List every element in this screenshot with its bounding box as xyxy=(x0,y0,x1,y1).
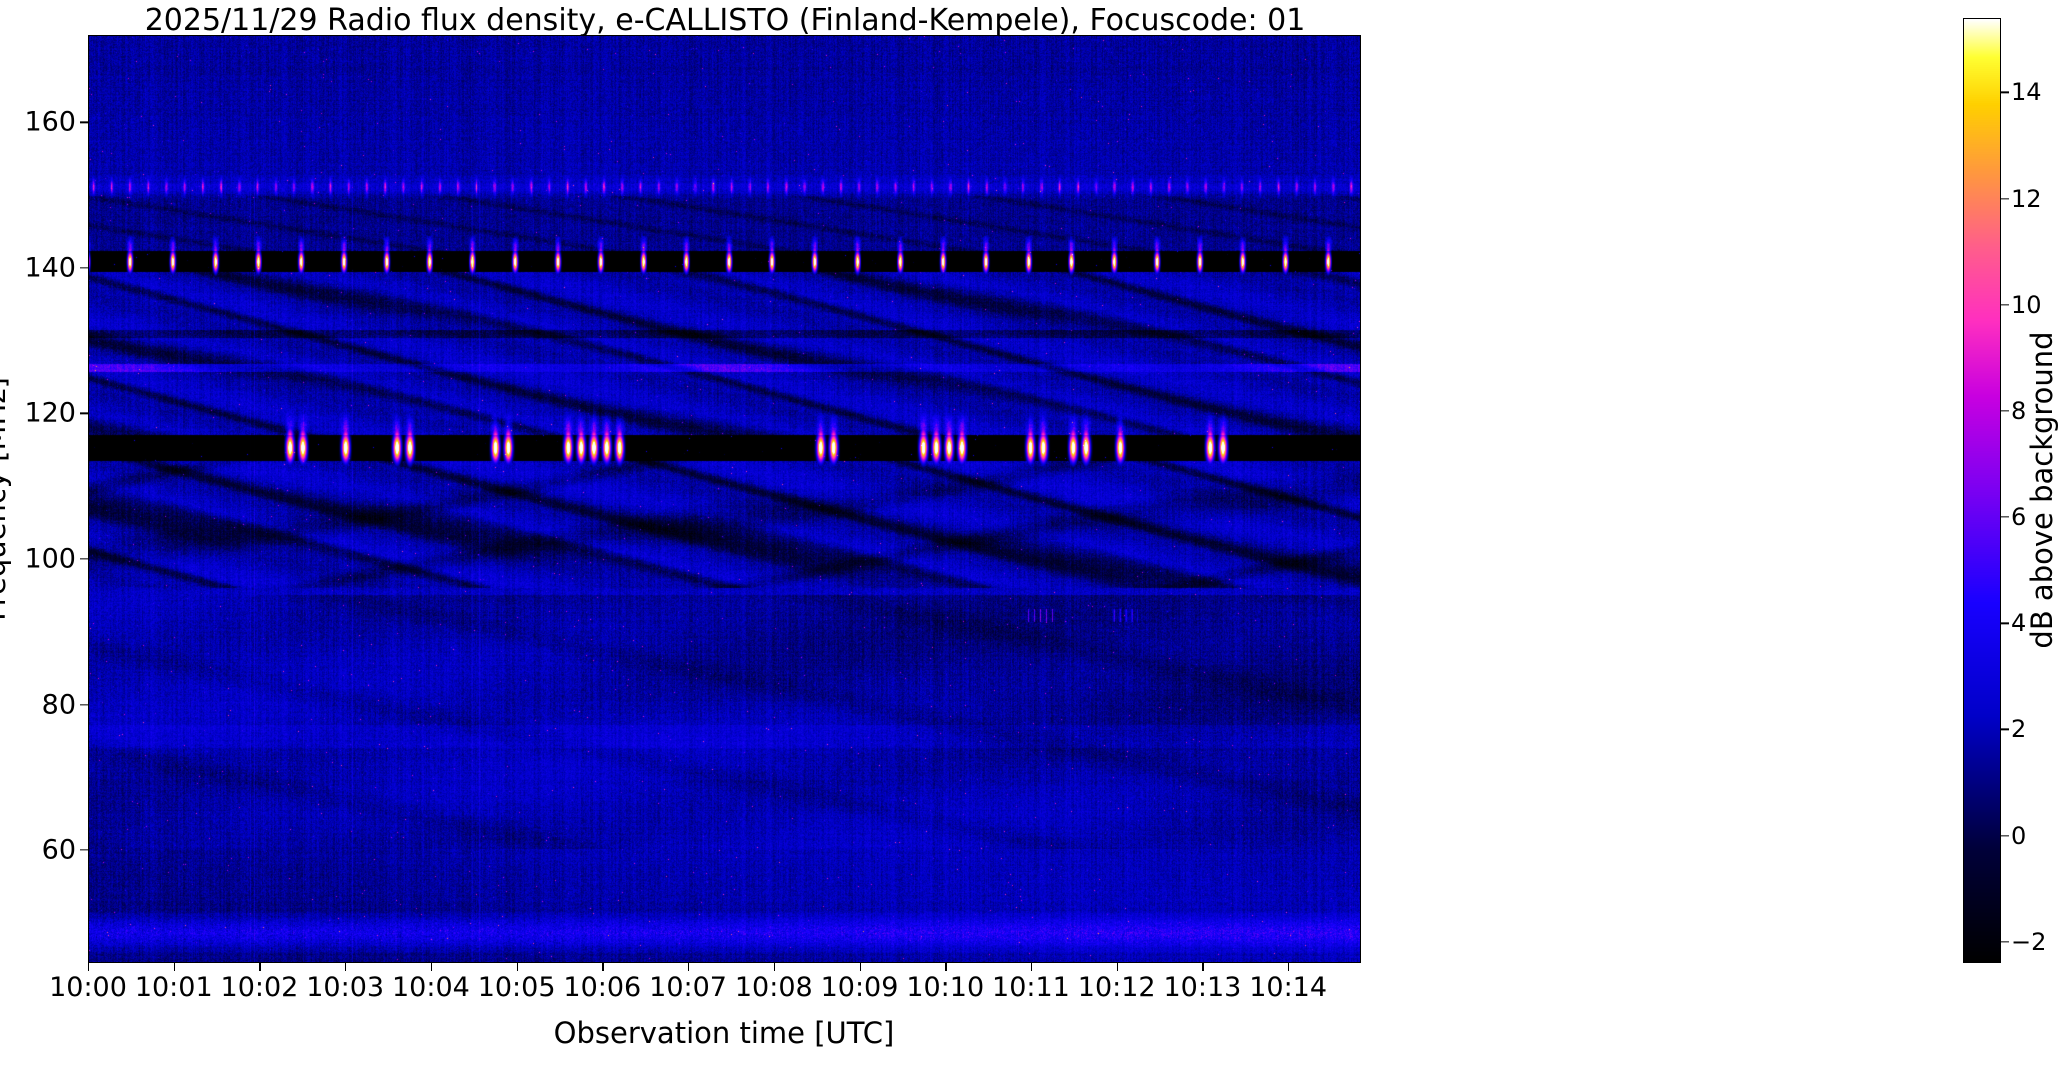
y-axis-tick-label: 160 xyxy=(8,109,76,136)
x-axis-tick-mark xyxy=(688,963,689,971)
spectrogram-canvas[interactable] xyxy=(89,36,1360,962)
spectrogram-plot-area[interactable] xyxy=(88,35,1361,963)
y-axis-tick-mark xyxy=(80,413,88,414)
x-axis-tick-mark xyxy=(1117,963,1118,971)
colorbar-tick-label: 0 xyxy=(2011,824,2026,848)
y-axis-tick-mark xyxy=(80,850,88,851)
x-axis-tick-mark xyxy=(1031,963,1032,971)
x-axis-tick-label: 10:12 xyxy=(1078,974,1156,1001)
x-axis-tick-mark xyxy=(517,963,518,971)
y-axis-tick-label: 60 xyxy=(8,837,76,864)
x-axis-tick-label: 10:10 xyxy=(906,974,984,1001)
y-axis-tick-label: 100 xyxy=(8,546,76,573)
x-axis-tick-mark xyxy=(602,963,603,971)
colorbar-tick-mark xyxy=(2001,92,2009,93)
x-axis-tick-label: 10:08 xyxy=(735,974,813,1001)
x-axis-tick-label: 10:00 xyxy=(49,974,127,1001)
x-axis-tick-label: 10:04 xyxy=(392,974,470,1001)
x-axis-tick-mark xyxy=(431,963,432,971)
x-axis-tick-mark xyxy=(345,963,346,971)
x-axis-tick-mark xyxy=(174,963,175,971)
colorbar-tick-label: 14 xyxy=(2011,80,2042,104)
colorbar-tick-label: 4 xyxy=(2011,611,2026,635)
y-axis-tick-mark xyxy=(80,122,88,123)
colorbar-tick-label: 12 xyxy=(2011,187,2042,211)
y-axis-tick-label: 120 xyxy=(8,400,76,427)
x-axis-tick-label: 10:03 xyxy=(306,974,384,1001)
x-axis-tick-mark xyxy=(945,963,946,971)
y-axis-label: Frequency [MHz] xyxy=(0,377,12,621)
x-axis-tick-label: 10:02 xyxy=(221,974,299,1001)
colorbar-tick-mark xyxy=(2001,304,2009,305)
colorbar-tick-label: 10 xyxy=(2011,293,2042,317)
x-axis-tick-mark xyxy=(259,963,260,971)
y-axis-tick-label: 80 xyxy=(8,691,76,718)
colorbar-tick-mark xyxy=(2001,516,2009,517)
colorbar-tick-label: −2 xyxy=(2011,930,2046,954)
figure-root: 2025/11/29 Radio flux density, e-CALLIST… xyxy=(0,0,2066,1067)
colorbar-tick-mark xyxy=(2001,729,2009,730)
x-axis-tick-mark xyxy=(88,963,89,971)
colorbar-tick-label: 8 xyxy=(2011,399,2026,423)
colorbar xyxy=(1963,18,2001,963)
x-axis-tick-mark xyxy=(860,963,861,971)
colorbar-tick-mark xyxy=(2001,410,2009,411)
x-axis-tick-mark xyxy=(1202,963,1203,971)
x-axis-tick-label: 10:13 xyxy=(1164,974,1242,1001)
colorbar-label: dB above background xyxy=(2025,331,2059,648)
colorbar-tick-mark xyxy=(2001,835,2009,836)
y-axis-tick-mark xyxy=(80,704,88,705)
x-axis-tick-label: 10:14 xyxy=(1249,974,1327,1001)
y-axis-tick-label: 140 xyxy=(8,254,76,281)
x-axis-tick-label: 10:11 xyxy=(992,974,1070,1001)
x-axis-tick-label: 10:09 xyxy=(821,974,899,1001)
x-axis-tick-label: 10:06 xyxy=(563,974,641,1001)
page-title: 2025/11/29 Radio flux density, e-CALLIST… xyxy=(0,4,1450,38)
colorbar-tick-label: 6 xyxy=(2011,505,2026,529)
y-axis-tick-mark xyxy=(80,558,88,559)
colorbar-tick-mark xyxy=(2001,623,2009,624)
x-axis-tick-label: 10:05 xyxy=(478,974,556,1001)
x-axis-tick-mark xyxy=(1288,963,1289,971)
colorbar-tick-mark xyxy=(2001,198,2009,199)
x-axis-tick-label: 10:07 xyxy=(649,974,727,1001)
colorbar-gradient xyxy=(1963,18,2001,963)
colorbar-tick-label: 2 xyxy=(2011,717,2026,741)
colorbar-tick-mark xyxy=(2001,941,2009,942)
x-axis-label: Observation time [UTC] xyxy=(554,1016,895,1050)
x-axis-tick-mark xyxy=(774,963,775,971)
x-axis-tick-label: 10:01 xyxy=(135,974,213,1001)
y-axis-tick-mark xyxy=(80,267,88,268)
